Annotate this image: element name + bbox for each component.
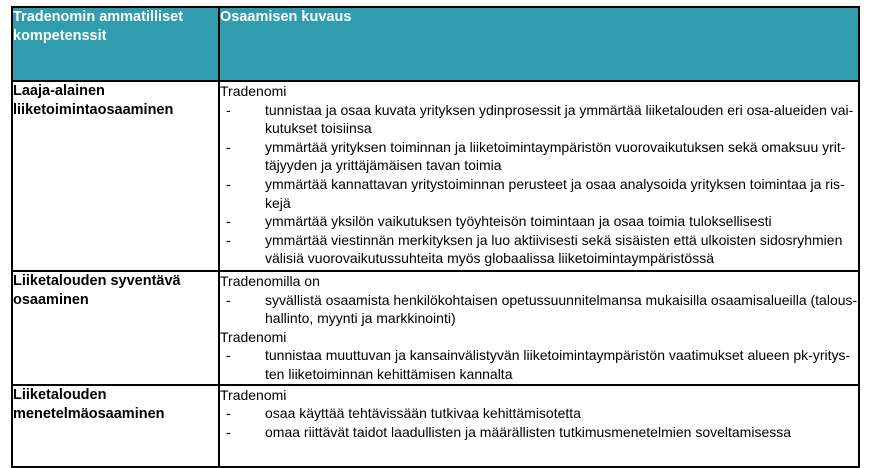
table-row: Liiketalouden menetelmäosaaminen Tradeno…: [12, 385, 859, 467]
competency-label: Liiketalouden menetelmäosaaminen: [13, 386, 218, 424]
list-item-text: ymmärtää yrityksen toiminnan ja liiketoi…: [265, 139, 845, 174]
header-cell-competency: Tradenomin ammatilliset kompetenssit: [12, 7, 219, 81]
bullet-dash-icon: -: [226, 101, 231, 120]
description-lead: Tradenomi: [220, 386, 858, 405]
list-item: -ymmärtää yrityksen toiminnan ja liiketo…: [220, 138, 858, 175]
description-lead: Tradenomi: [220, 328, 858, 347]
description-block: Tradenomi -tunnistaa muuttuvan ja kansai…: [220, 328, 858, 384]
description-block: Tradenomi -tunnistaa ja osaa kuvata yrit…: [220, 82, 858, 268]
table-row: Liiketalouden syventävä osaaminen Traden…: [12, 271, 859, 385]
description-block: Tradenomi -osaa käyttää tehtävissään tut…: [220, 386, 858, 442]
table-row: Laaja-alainen liiketoimintaosaaminen Tra…: [12, 81, 859, 271]
list-item-text: osaa käyttää tehtävissään tutkivaa kehit…: [265, 405, 581, 421]
competency-name-cell: Liiketalouden syventävä osaaminen: [12, 271, 219, 385]
bullet-dash-icon: -: [226, 138, 231, 157]
list-item-text: tunnistaa ja osaa kuvata yrityksen ydinp…: [265, 102, 853, 137]
bullet-dash-icon: -: [226, 423, 231, 442]
header-label-competency: Tradenomin ammatilliset kompetenssit: [13, 8, 218, 46]
description-lead: Tradenomi: [220, 82, 858, 101]
bullet-dash-icon: -: [226, 212, 231, 231]
bullet-dash-icon: -: [226, 231, 231, 250]
bullet-dash-icon: -: [226, 346, 231, 365]
list-item-text: ymmärtää viestinnän merkityksen ja luo a…: [265, 232, 842, 267]
competency-description-cell: Tradenomilla on -syvällistä osaamista he…: [219, 271, 859, 385]
description-block: Tradenomilla on -syvällistä osaamista he…: [220, 272, 858, 328]
description-list: -tunnistaa ja osaa kuvata yrityksen ydin…: [220, 101, 858, 268]
competency-label: Laaja-alainen liiketoimintaosaaminen: [13, 82, 218, 120]
list-item-text: ymmärtää yksilön vaikutuksen työyhteisön…: [265, 213, 772, 229]
header-cell-description: Osaamisen kuvaus: [219, 7, 859, 81]
competency-table: Tradenomin ammatilliset kompetenssit Osa…: [11, 6, 860, 468]
list-item-text: omaa riittävät taidot laadullisten ja mä…: [265, 424, 791, 440]
list-item: -syvällistä osaamista henkilökohtaisen o…: [220, 291, 858, 328]
bullet-dash-icon: -: [226, 291, 231, 310]
list-item-text: tunnistaa muuttuvan ja kansainvälistyvän…: [265, 347, 850, 382]
header-label-description: Osaamisen kuvaus: [220, 8, 858, 27]
bullet-dash-icon: -: [226, 404, 231, 423]
description-lead: Tradenomilla on: [220, 272, 858, 291]
list-item-text: syvällistä osaamista henkilökohtaisen op…: [265, 292, 857, 327]
list-item: -omaa riittävät taidot laadullisten ja m…: [220, 423, 858, 442]
competency-name-cell: Laaja-alainen liiketoimintaosaaminen: [12, 81, 219, 271]
description-list: -osaa käyttää tehtävissään tutkivaa kehi…: [220, 404, 858, 441]
description-list: -syvällistä osaamista henkilökohtaisen o…: [220, 291, 858, 328]
competency-description-cell: Tradenomi -osaa käyttää tehtävissään tut…: [219, 385, 859, 467]
header-row: Tradenomin ammatilliset kompetenssit Osa…: [12, 7, 859, 81]
table-body: Laaja-alainen liiketoimintaosaaminen Tra…: [12, 81, 859, 467]
competency-table-container: Tradenomin ammatilliset kompetenssit Osa…: [11, 6, 858, 468]
list-item: -tunnistaa muuttuvan ja kansainvälistyvä…: [220, 346, 858, 383]
list-item: -ymmärtää viestinnän merkityksen ja luo …: [220, 231, 858, 268]
competency-description-cell: Tradenomi -tunnistaa ja osaa kuvata yrit…: [219, 81, 859, 271]
list-item: -ymmärtää yksilön vaikutuksen työyhteisö…: [220, 212, 858, 231]
description-list: -tunnistaa muuttuvan ja kansainvälistyvä…: [220, 346, 858, 383]
competency-name-cell: Liiketalouden menetelmäosaaminen: [12, 385, 219, 467]
competency-label: Liiketalouden syventävä osaaminen: [13, 272, 218, 310]
list-item: -tunnistaa ja osaa kuvata yrityksen ydin…: [220, 101, 858, 138]
list-item: -ymmärtää kannattavan yritystoiminnan pe…: [220, 175, 858, 212]
bullet-dash-icon: -: [226, 175, 231, 194]
list-item-text: ymmärtää kannattavan yritystoiminnan per…: [265, 176, 845, 211]
table-header: Tradenomin ammatilliset kompetenssit Osa…: [12, 7, 859, 81]
list-item: -osaa käyttää tehtävissään tutkivaa kehi…: [220, 404, 858, 423]
